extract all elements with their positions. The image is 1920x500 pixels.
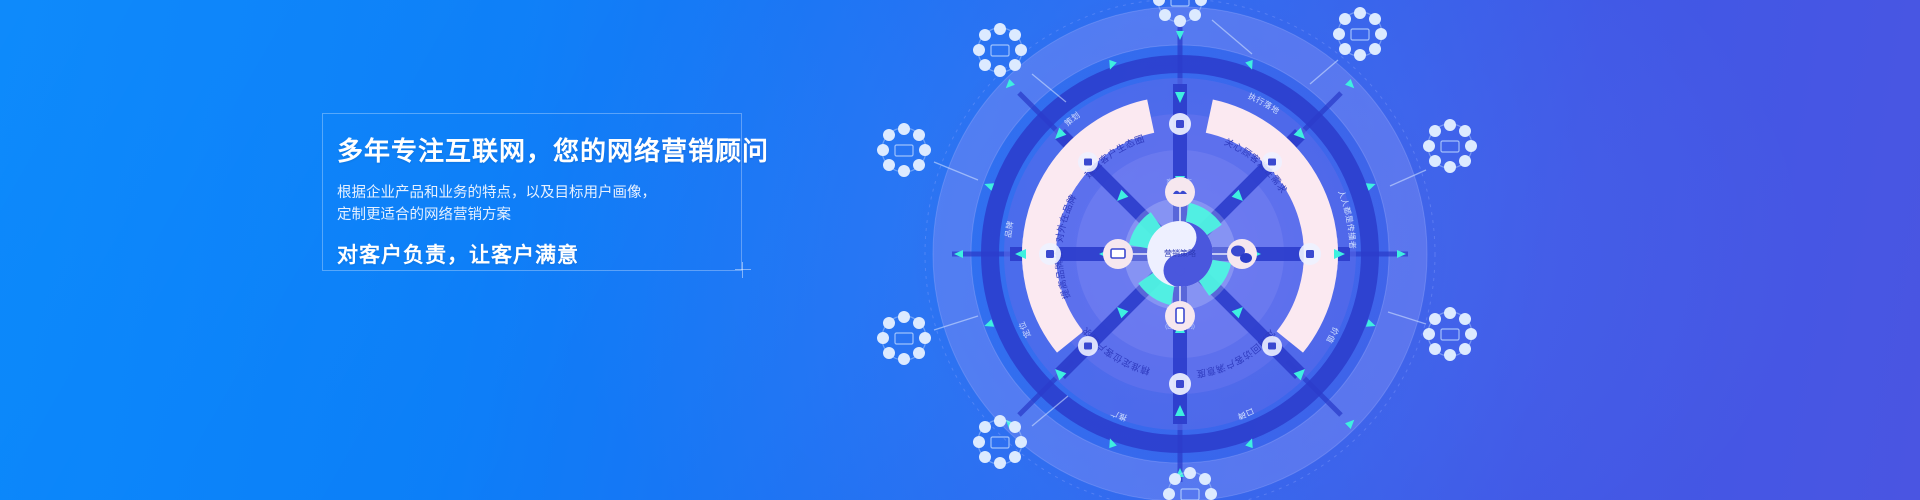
satellite-connectors [934, 20, 1426, 426]
satellite-cluster [1163, 467, 1217, 500]
satellite-cluster [877, 123, 931, 177]
satellite-cluster [973, 415, 1027, 469]
satellite-cluster [1333, 7, 1387, 61]
satellite-cluster [1423, 307, 1477, 361]
marketing-copy-content: 多年专注互联网，您的网络营销顾问 根据企业产品和业务的特点，以及目标用户画像， … [337, 112, 807, 270]
page-title: 多年专注互联网，您的网络营销顾问 [337, 112, 807, 168]
satellite-cluster [1423, 119, 1477, 173]
subtitle-line-2: 定制更适合的网络营销方案 [337, 204, 807, 226]
crosshair-accent-icon [735, 262, 751, 278]
satellite-cluster [973, 23, 1027, 77]
marketing-copy-box: 多年专注互联网，您的网络营销顾问 根据企业产品和业务的特点，以及目标用户画像， … [322, 113, 742, 271]
satellite-cluster [1153, 0, 1207, 27]
subtitle-line-1: 根据企业产品和业务的特点，以及目标用户画像， [337, 168, 807, 204]
hero-banner: 多年专注互联网，您的网络营销顾问 根据企业产品和业务的特点，以及目标用户画像， … [0, 0, 1920, 500]
satellite-cluster [877, 311, 931, 365]
